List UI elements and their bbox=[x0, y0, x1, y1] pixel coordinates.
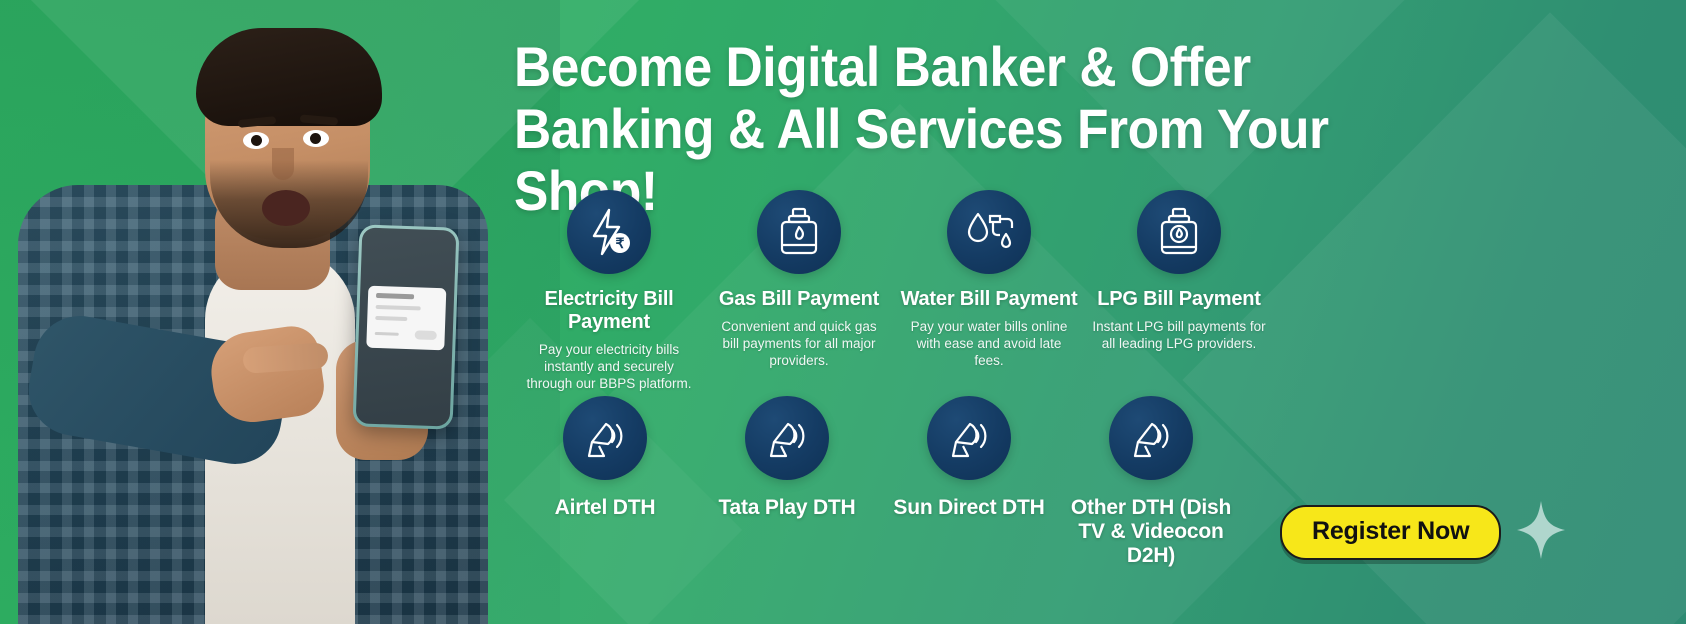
satellite-dish-icon bbox=[1109, 396, 1193, 480]
service-card-other-dth[interactable]: Other DTH (Dish TV & Videocon D2H) bbox=[1062, 396, 1240, 568]
service-description: Instant LPG bill payments for all leadin… bbox=[1086, 318, 1272, 352]
service-card-airtel-dth[interactable]: Airtel DTH bbox=[516, 396, 694, 568]
service-title: Gas Bill Payment bbox=[706, 288, 892, 311]
register-now-button[interactable]: Register Now bbox=[1280, 505, 1501, 560]
hero-photo bbox=[0, 0, 520, 624]
pupil-right bbox=[310, 133, 321, 144]
phone-card-line bbox=[375, 316, 407, 321]
gas-cylinder-flame-icon bbox=[757, 190, 841, 274]
service-title: Airtel DTH bbox=[516, 496, 694, 520]
four-point-star-icon bbox=[1515, 499, 1567, 566]
satellite-dish-icon bbox=[745, 396, 829, 480]
svg-text:₹: ₹ bbox=[616, 235, 625, 251]
promo-banner: Become Digital Banker & Offer Banking & … bbox=[0, 0, 1686, 624]
services-row-bills: ₹ Electricity Bill Payment Pay your elec… bbox=[516, 190, 1676, 392]
phone-card-meta bbox=[375, 332, 399, 336]
phone-card-line bbox=[376, 305, 421, 311]
water-tap-droplet-icon bbox=[947, 190, 1031, 274]
service-card-gas[interactable]: Gas Bill Payment Convenient and quick ga… bbox=[706, 190, 892, 392]
phone-card-button bbox=[415, 330, 437, 340]
service-title: Electricity Bill Payment bbox=[516, 288, 702, 334]
service-description: Convenient and quick gas bill payments f… bbox=[706, 318, 892, 369]
mouth bbox=[262, 190, 310, 226]
service-title: LPG Bill Payment bbox=[1086, 288, 1272, 311]
lpg-cylinder-flame-icon bbox=[1137, 190, 1221, 274]
satellite-dish-icon bbox=[927, 396, 1011, 480]
service-title: Tata Play DTH bbox=[698, 496, 876, 520]
service-title: Sun Direct DTH bbox=[880, 496, 1058, 520]
electricity-bolt-rupee-icon: ₹ bbox=[567, 190, 651, 274]
phone-card-footer bbox=[375, 329, 437, 340]
phone-card-title-bar bbox=[376, 293, 415, 299]
service-card-tata-play-dth[interactable]: Tata Play DTH bbox=[698, 396, 876, 568]
headline-line-1: Become Digital Banker & Offer bbox=[514, 36, 1251, 98]
pupil-left bbox=[251, 135, 262, 146]
phone-app-card bbox=[366, 286, 446, 351]
service-title: Other DTH (Dish TV & Videocon D2H) bbox=[1062, 496, 1240, 568]
service-card-water[interactable]: Water Bill Payment Pay your water bills … bbox=[896, 190, 1082, 392]
nose bbox=[272, 148, 294, 180]
cta-container: Register Now bbox=[1280, 499, 1567, 566]
service-title: Water Bill Payment bbox=[896, 288, 1082, 311]
service-card-sun-direct-dth[interactable]: Sun Direct DTH bbox=[880, 396, 1058, 568]
satellite-dish-icon bbox=[563, 396, 647, 480]
service-description: Pay your electricity bills instantly and… bbox=[516, 341, 702, 392]
phone-screen bbox=[356, 227, 457, 426]
hair bbox=[196, 28, 382, 126]
service-card-electricity[interactable]: ₹ Electricity Bill Payment Pay your elec… bbox=[516, 190, 702, 392]
service-description: Pay your water bills online with ease an… bbox=[896, 318, 1082, 369]
smartphone-mockup bbox=[353, 224, 460, 429]
service-card-lpg[interactable]: LPG Bill Payment Instant LPG bill paymen… bbox=[1086, 190, 1272, 392]
